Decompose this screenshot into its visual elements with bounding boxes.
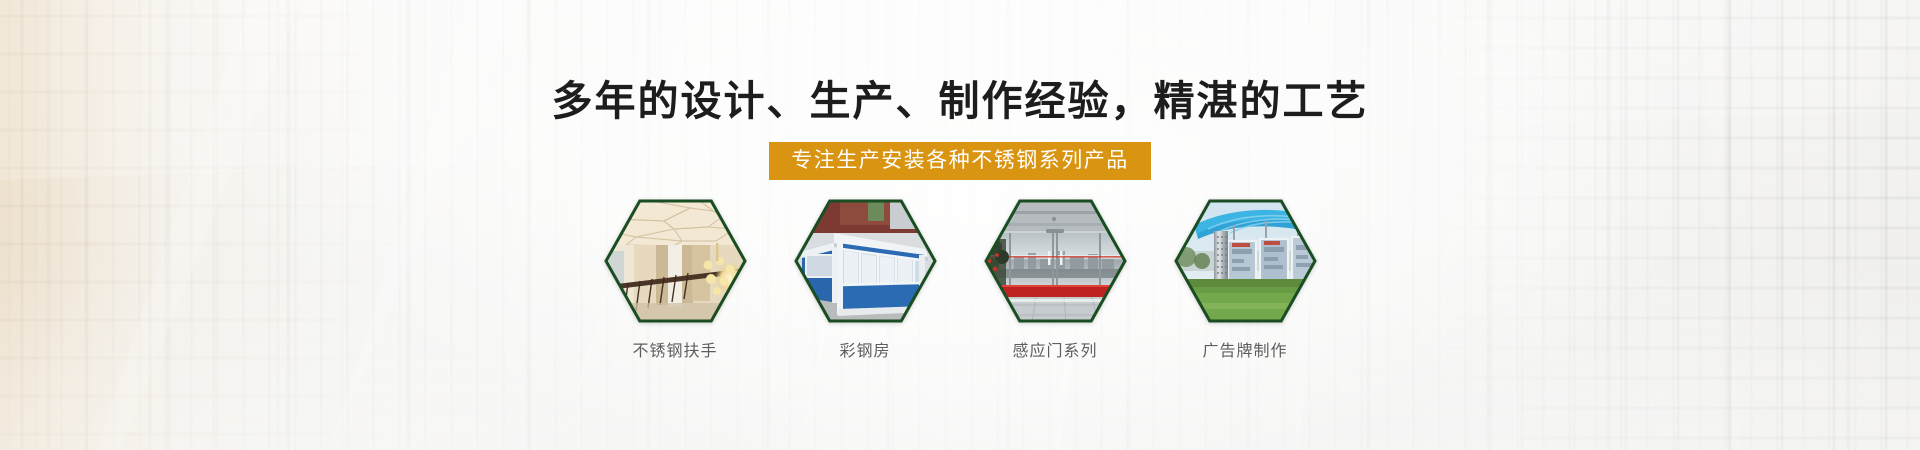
product-label-color-steel-cabin: 彩钢房 xyxy=(839,337,890,361)
hexagon-frame-handrail[interactable] xyxy=(604,199,747,323)
page-title: 多年的设计、生产、制作经验，精湛的工艺 xyxy=(552,78,1369,125)
product-label-billboard: 广告牌制作 xyxy=(1202,337,1287,361)
automatic-sensor-door-icon xyxy=(984,199,1127,323)
product-item-sensor-door[interactable]: 感应门系列 xyxy=(972,199,1138,361)
hexagon-frame-sensor-door[interactable] xyxy=(984,199,1127,323)
product-label-sensor-door: 感应门系列 xyxy=(1012,337,1097,361)
product-item-billboard[interactable]: 广告牌制作 xyxy=(1162,199,1328,361)
stainless-steel-handrail-icon xyxy=(604,199,747,323)
hexagon-frame-billboard[interactable] xyxy=(1174,199,1317,323)
billboard-fabrication-icon xyxy=(1174,199,1317,323)
color-steel-cabin-icon xyxy=(794,199,937,323)
hexagon-frame-color-steel-cabin[interactable] xyxy=(794,199,937,323)
product-item-handrail[interactable]: 不锈钢扶手 xyxy=(592,199,758,361)
banner-content: 多年的设计、生产、制作经验，精湛的工艺 专注生产安装各种不锈钢系列产品 xyxy=(0,0,1920,450)
product-item-color-steel-cabin[interactable]: 彩钢房 xyxy=(782,199,948,361)
subtitle-badge: 专注生产安装各种不锈钢系列产品 xyxy=(769,142,1151,180)
hero-banner: 多年的设计、生产、制作经验，精湛的工艺 专注生产安装各种不锈钢系列产品 xyxy=(0,0,1920,450)
product-hexagon-row: 不锈钢扶手 xyxy=(592,199,1328,361)
product-label-handrail: 不锈钢扶手 xyxy=(632,337,717,361)
